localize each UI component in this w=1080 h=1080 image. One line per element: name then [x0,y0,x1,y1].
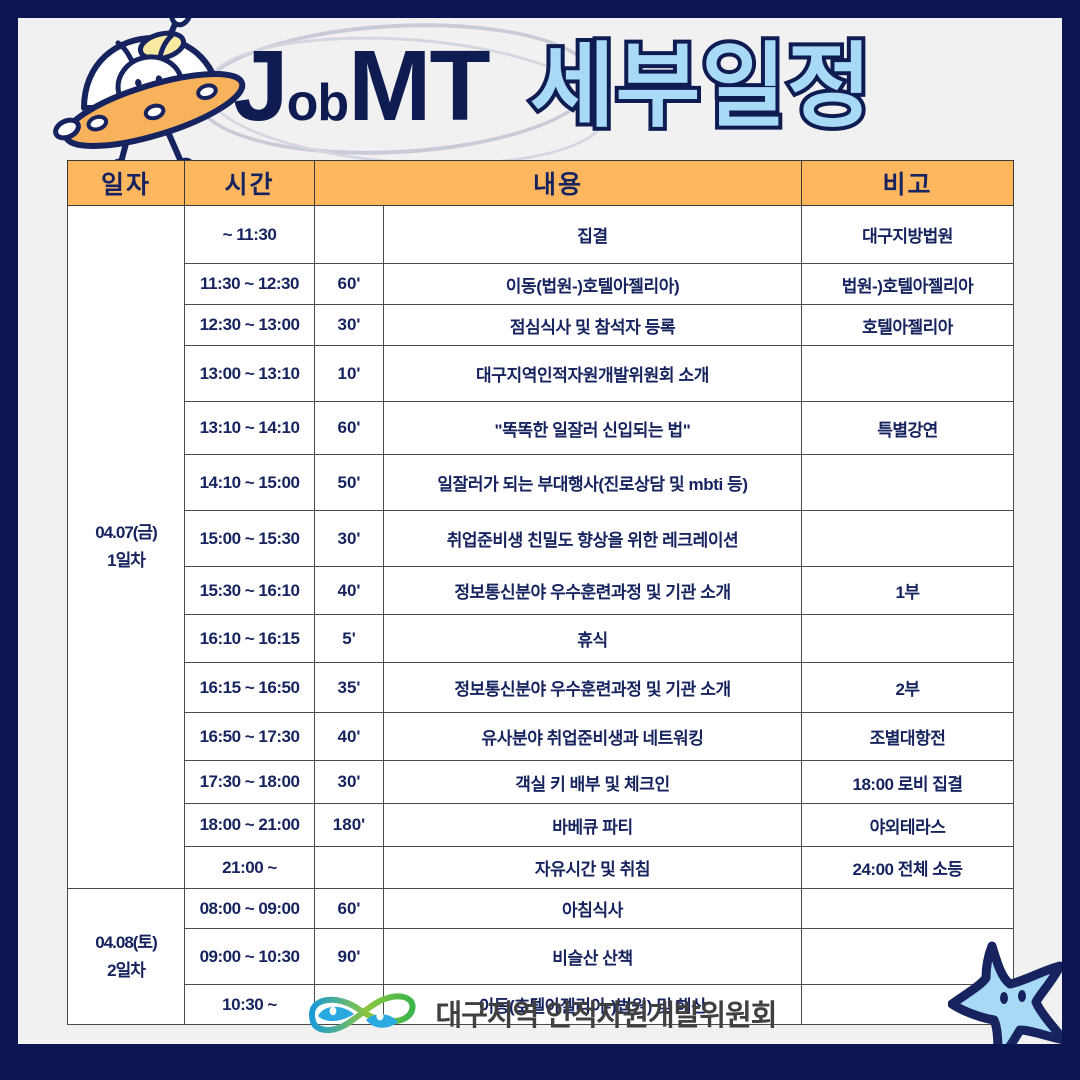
star-icon [948,936,1062,1044]
table-row: 13:10 ~ 14:1060'"똑똑한 일잘러 신입되는 법"특별강연 [68,402,1014,455]
organization-name: 대구지역 인적자원개발위원회 [436,992,777,1034]
cell-duration: 30' [315,305,384,346]
cell-content: 일잘러가 되는 부대행사(진로상담 및 mbti 등) [384,455,802,511]
cell-content: "똑똑한 일잘러 신입되는 법" [384,402,802,455]
cell-note: 대구지방법원 [802,206,1014,264]
cell-duration: 90' [315,929,384,985]
cell-time: 09:00 ~ 10:30 [185,929,315,985]
column-header-time: 시간 [185,161,315,206]
cell-note [802,346,1014,402]
footer: 대구지역 인적자원개발위원회 [18,982,1062,1044]
cell-time: 15:30 ~ 16:10 [185,567,315,615]
cell-date-line2: 2일차 [107,961,145,980]
column-header-note: 비고 [802,161,1014,206]
table-row: 17:30 ~ 18:0030'객실 키 배부 및 체크인18:00 로비 집결 [68,761,1014,804]
cell-note [802,455,1014,511]
cell-duration: 60' [315,264,384,305]
cell-duration: 30' [315,761,384,804]
cell-duration: 30' [315,511,384,567]
cell-duration: 5' [315,615,384,663]
cell-duration: 60' [315,889,384,929]
cell-time: 21:00 ~ [185,847,315,889]
table-row: 15:00 ~ 15:3030'취업준비생 친밀도 향상을 위한 레크레이션 [68,511,1014,567]
cell-time: 11:30 ~ 12:30 [185,264,315,305]
poster-header: JobMT 세부일정 [18,18,1062,158]
cell-content: 정보통신분야 우수훈련과정 및 기관 소개 [384,663,802,713]
cell-note: 2부 [802,663,1014,713]
cell-content: 취업준비생 친밀도 향상을 위한 레크레이션 [384,511,802,567]
cell-note [802,511,1014,567]
table-row: 16:50 ~ 17:3040'유사분야 취업준비생과 네트워킹조별대항전 [68,713,1014,761]
cell-date: 04.07(금)1일차 [68,206,185,889]
cell-time: 13:00 ~ 13:10 [185,346,315,402]
table-header-row: 일자 시간 내용 비고 [68,161,1014,206]
cell-duration [315,206,384,264]
cell-duration: 40' [315,713,384,761]
brand-title-mt: MT [348,30,488,142]
cell-note: 1부 [802,567,1014,615]
poster-root: JobMT 세부일정 [0,0,1080,1080]
cell-note [802,615,1014,663]
table-row: 12:30 ~ 13:0030'점심식사 및 참석자 등록호텔아젤리아 [68,305,1014,346]
cell-content: 객실 키 배부 및 체크인 [384,761,802,804]
cell-note: 특별강연 [802,402,1014,455]
cell-content: 아침식사 [384,889,802,929]
cell-time: 16:50 ~ 17:30 [185,713,315,761]
table-row: 09:00 ~ 10:3090'비슬산 산책 [68,929,1014,985]
cell-date-line1: 04.08(토) [95,933,157,952]
cell-note [802,889,1014,929]
cell-content: 집결 [384,206,802,264]
daegu-hrd-logo-icon [304,990,422,1036]
table-row: 16:15 ~ 16:5035'정보통신분야 우수훈련과정 및 기관 소개2부 [68,663,1014,713]
table-row: 04.07(금)1일차~ 11:30집결대구지방법원 [68,206,1014,264]
cell-duration: 10' [315,346,384,402]
cell-time: 16:10 ~ 16:15 [185,615,315,663]
cell-time: ~ 11:30 [185,206,315,264]
cell-duration: 50' [315,455,384,511]
table-row: 18:00 ~ 21:00180'바베큐 파티야외테라스 [68,804,1014,847]
cell-time: 14:10 ~ 15:00 [185,455,315,511]
cell-note: 호텔아젤리아 [802,305,1014,346]
cell-content: 유사분야 취업준비생과 네트워킹 [384,713,802,761]
cell-time: 16:15 ~ 16:50 [185,663,315,713]
cell-duration: 180' [315,804,384,847]
table-body: 04.07(금)1일차~ 11:30집결대구지방법원11:30 ~ 12:306… [68,206,1014,1025]
cell-note: 조별대항전 [802,713,1014,761]
column-header-date: 일자 [68,161,185,206]
poster-panel: JobMT 세부일정 [18,18,1062,1044]
brand-title: JobMT [233,36,489,153]
cell-duration: 40' [315,567,384,615]
page-title: 세부일정 [530,32,873,142]
cell-duration: 35' [315,663,384,713]
table-row: 16:10 ~ 16:155'휴식 [68,615,1014,663]
cell-content: 점심식사 및 참석자 등록 [384,305,802,346]
cell-time: 08:00 ~ 09:00 [185,889,315,929]
cell-time: 12:30 ~ 13:00 [185,305,315,346]
cell-content: 휴식 [384,615,802,663]
cell-time: 18:00 ~ 21:00 [185,804,315,847]
cell-duration [315,847,384,889]
cell-content: 바베큐 파티 [384,804,802,847]
cell-content: 대구지역인적자원개발위원회 소개 [384,346,802,402]
cell-date-line1: 04.07(금) [95,523,157,542]
table-row: 21:00 ~자유시간 및 취침24:00 전체 소등 [68,847,1014,889]
cell-date-line2: 1일차 [107,551,145,570]
cell-note: 야외테라스 [802,804,1014,847]
cell-content: 자유시간 및 취침 [384,847,802,889]
cell-content: 비슬산 산책 [384,929,802,985]
table-header: 일자 시간 내용 비고 [68,161,1014,206]
cell-note: 24:00 전체 소등 [802,847,1014,889]
cell-content: 정보통신분야 우수훈련과정 및 기관 소개 [384,567,802,615]
cell-time: 15:00 ~ 15:30 [185,511,315,567]
schedule-table: 일자 시간 내용 비고 04.07(금)1일차~ 11:30집결대구지방법원11… [67,160,1014,1025]
cell-note: 법원-)호텔아젤리아 [802,264,1014,305]
cell-time: 17:30 ~ 18:00 [185,761,315,804]
table-row: 14:10 ~ 15:0050'일잘러가 되는 부대행사(진로상담 및 mbti… [68,455,1014,511]
cell-time: 13:10 ~ 14:10 [185,402,315,455]
table-row: 04.08(토)2일차08:00 ~ 09:0060'아침식사 [68,889,1014,929]
brand-title-ob: ob [287,74,349,132]
table-row: 15:30 ~ 16:1040'정보통신분야 우수훈련과정 및 기관 소개1부 [68,567,1014,615]
table-row: 13:00 ~ 13:1010'대구지역인적자원개발위원회 소개 [68,346,1014,402]
cell-duration: 60' [315,402,384,455]
column-header-content: 내용 [315,161,802,206]
cell-note: 18:00 로비 집결 [802,761,1014,804]
cell-content: 이동(법원-)호텔아젤리아) [384,264,802,305]
table-row: 11:30 ~ 12:3060'이동(법원-)호텔아젤리아)법원-)호텔아젤리아 [68,264,1014,305]
